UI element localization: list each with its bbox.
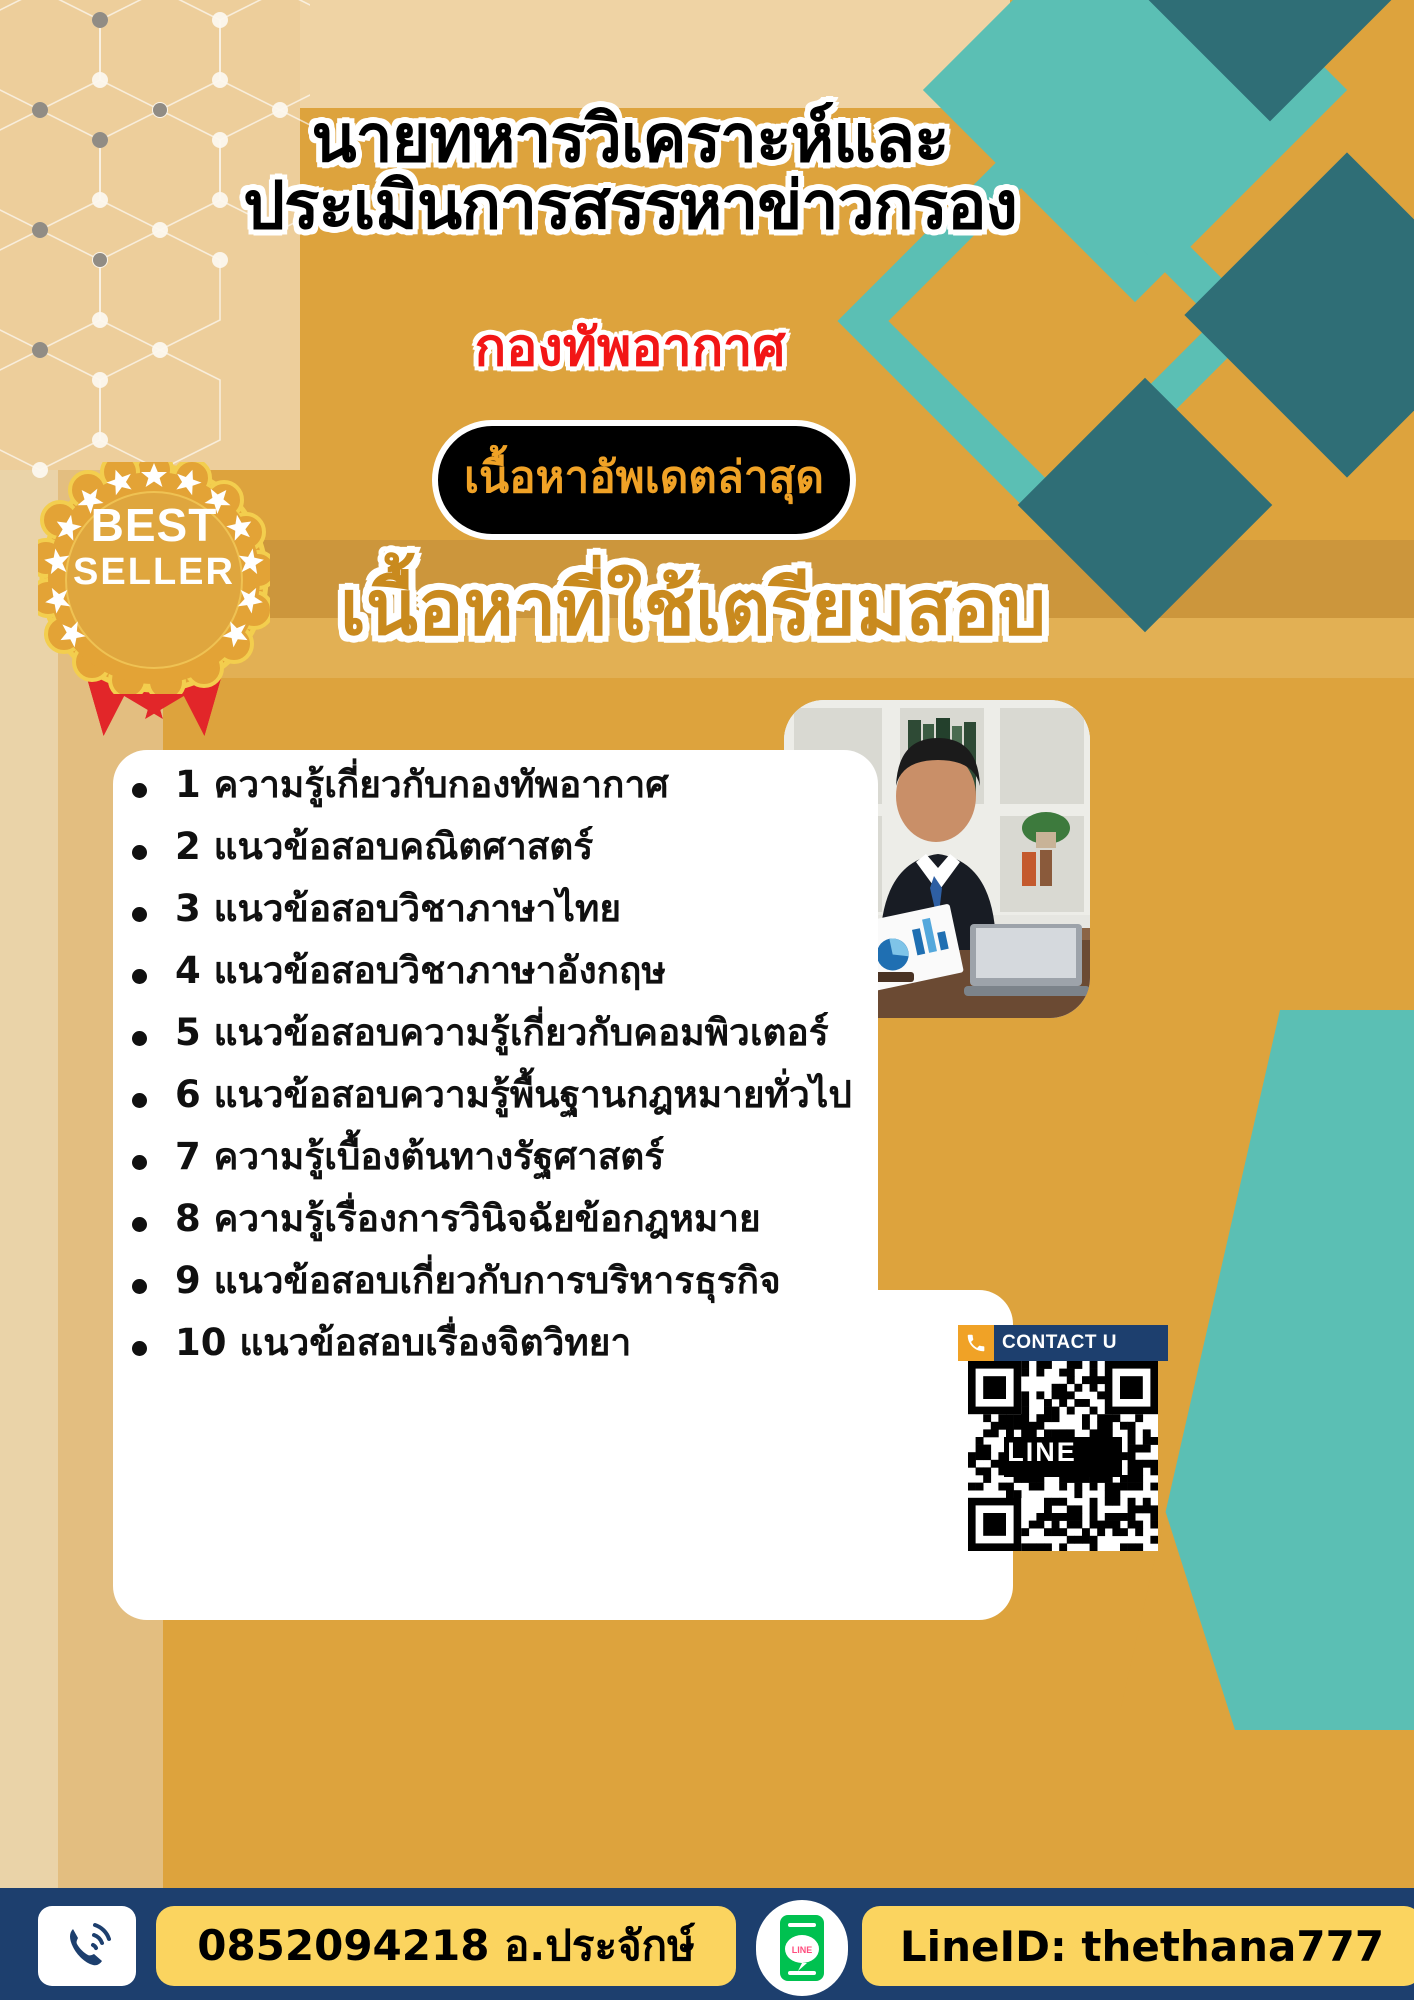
list-item: 7 ความรู้เบื้องต้นทางรัฐศาสตร์ xyxy=(118,1134,1078,1196)
list-item-label: 2 แนวข้อสอบคณิตศาสตร์ xyxy=(175,824,593,865)
list-item: 4 แนวข้อสอบวิชาภาษาอังกฤษ xyxy=(118,948,1078,1010)
list-item-label: 5 แนวข้อสอบความรู้เกี่ยวกับคอมพิวเตอร์ xyxy=(175,1010,829,1051)
list-item-label: 3 แนวข้อสอบวิชาภาษาไทย xyxy=(175,886,621,927)
organization-name: กองทัพอากาศ xyxy=(130,305,1130,388)
phone-icon xyxy=(958,1325,994,1361)
update-badge: เนื้อหาอัพเดตล่าสุด xyxy=(432,420,856,540)
best-seller-text: BEST SELLER xyxy=(38,502,270,594)
bullet-dot-icon xyxy=(132,1341,147,1356)
qr-line-label: LINE xyxy=(982,1437,1102,1471)
list-item: 2 แนวข้อสอบคณิตศาสตร์ xyxy=(118,824,1078,886)
list-item-label: 6 แนวข้อสอบความรู้พื้นฐานกฎหมายทั่วไป xyxy=(175,1072,852,1113)
list-item: 6 แนวข้อสอบความรู้พื้นฐานกฎหมายทั่วไป xyxy=(118,1072,1078,1134)
bullet-dot-icon xyxy=(132,1217,147,1232)
svg-text:LINE: LINE xyxy=(792,1945,813,1955)
line-id-pill[interactable]: LineID: thethana777 xyxy=(862,1906,1414,1986)
bullet-dot-icon xyxy=(132,1031,147,1046)
section-heading: เนื้อหาที่ใช้เตรียมสอบ xyxy=(258,570,1128,646)
bullet-dot-icon xyxy=(132,845,147,860)
best-seller-line1: BEST xyxy=(38,502,270,548)
list-item: 9 แนวข้อสอบเกี่ยวกับการบริหารธุรกิจ xyxy=(118,1258,1078,1320)
best-seller-line2: SELLER xyxy=(38,552,270,594)
list-item: 5 แนวข้อสอบความรู้เกี่ยวกับคอมพิวเตอร์ xyxy=(118,1010,1078,1072)
list-item: 10 แนวข้อสอบเรื่องจิตวิทยา xyxy=(118,1320,1078,1382)
bullet-dot-icon xyxy=(132,1279,147,1294)
bullet-dot-icon xyxy=(132,969,147,984)
bullet-dot-icon xyxy=(132,1093,147,1108)
phone-ring-icon[interactable] xyxy=(38,1906,136,1986)
list-item: 3 แนวข้อสอบวิชาภาษาไทย xyxy=(118,886,1078,948)
line-id-text: LineID: thethana777 xyxy=(900,1922,1384,1971)
phone-number-pill[interactable]: 0852094218 อ.ประจักษ์ xyxy=(156,1906,736,1986)
bullet-dot-icon xyxy=(132,907,147,922)
list-item-label: 7 ความรู้เบื้องต้นทางรัฐศาสตร์ xyxy=(175,1134,664,1175)
list-item-label: 4 แนวข้อสอบวิชาภาษาอังกฤษ xyxy=(175,948,666,989)
poster-title: นายทหารวิเคราะห์และ ประเมินการสรรหาข่าวก… xyxy=(130,105,1130,240)
list-item: 1 ความรู้เกี่ยวกับกองทัพอากาศ xyxy=(118,762,1078,824)
contact-us-label: CONTACT U xyxy=(1002,1332,1117,1354)
topics-list: 1 ความรู้เกี่ยวกับกองทัพอากาศ2 แนวข้อสอบ… xyxy=(118,762,1078,1382)
phone-number-text: 0852094218 อ.ประจักษ์ xyxy=(197,1913,695,1979)
list-item-label: 10 แนวข้อสอบเรื่องจิตวิทยา xyxy=(175,1320,631,1361)
line-app-icon[interactable]: LINE xyxy=(756,1900,848,1996)
list-item-label: 8 ความรู้เรื่องการวินิจฉัยข้อกฎหมาย xyxy=(175,1196,761,1237)
bullet-dot-icon xyxy=(132,1155,147,1170)
list-item: 8 ความรู้เรื่องการวินิจฉัยข้อกฎหมาย xyxy=(118,1196,1078,1258)
update-badge-label: เนื้อหาอัพเดตล่าสุด xyxy=(464,456,824,504)
poster-title-line1: นายทหารวิเคราะห์และ xyxy=(311,100,948,177)
poster-title-line2: ประเมินการสรรหาข่าวกรอง xyxy=(130,172,1130,239)
list-item-label: 1 ความรู้เกี่ยวกับกองทัพอากาศ xyxy=(175,762,669,803)
contact-us-header: CONTACT U xyxy=(958,1325,1168,1361)
poster-root: นายทหารวิเคราะห์และ ประเมินการสรรหาข่าวก… xyxy=(0,0,1414,2000)
bullet-dot-icon xyxy=(132,783,147,798)
best-seller-seal: BEST SELLER xyxy=(38,462,270,752)
contact-qr-card: CONTACT U LINE xyxy=(958,1325,1168,1580)
list-item-label: 9 แนวข้อสอบเกี่ยวกับการบริหารธุรกิจ xyxy=(175,1258,781,1299)
